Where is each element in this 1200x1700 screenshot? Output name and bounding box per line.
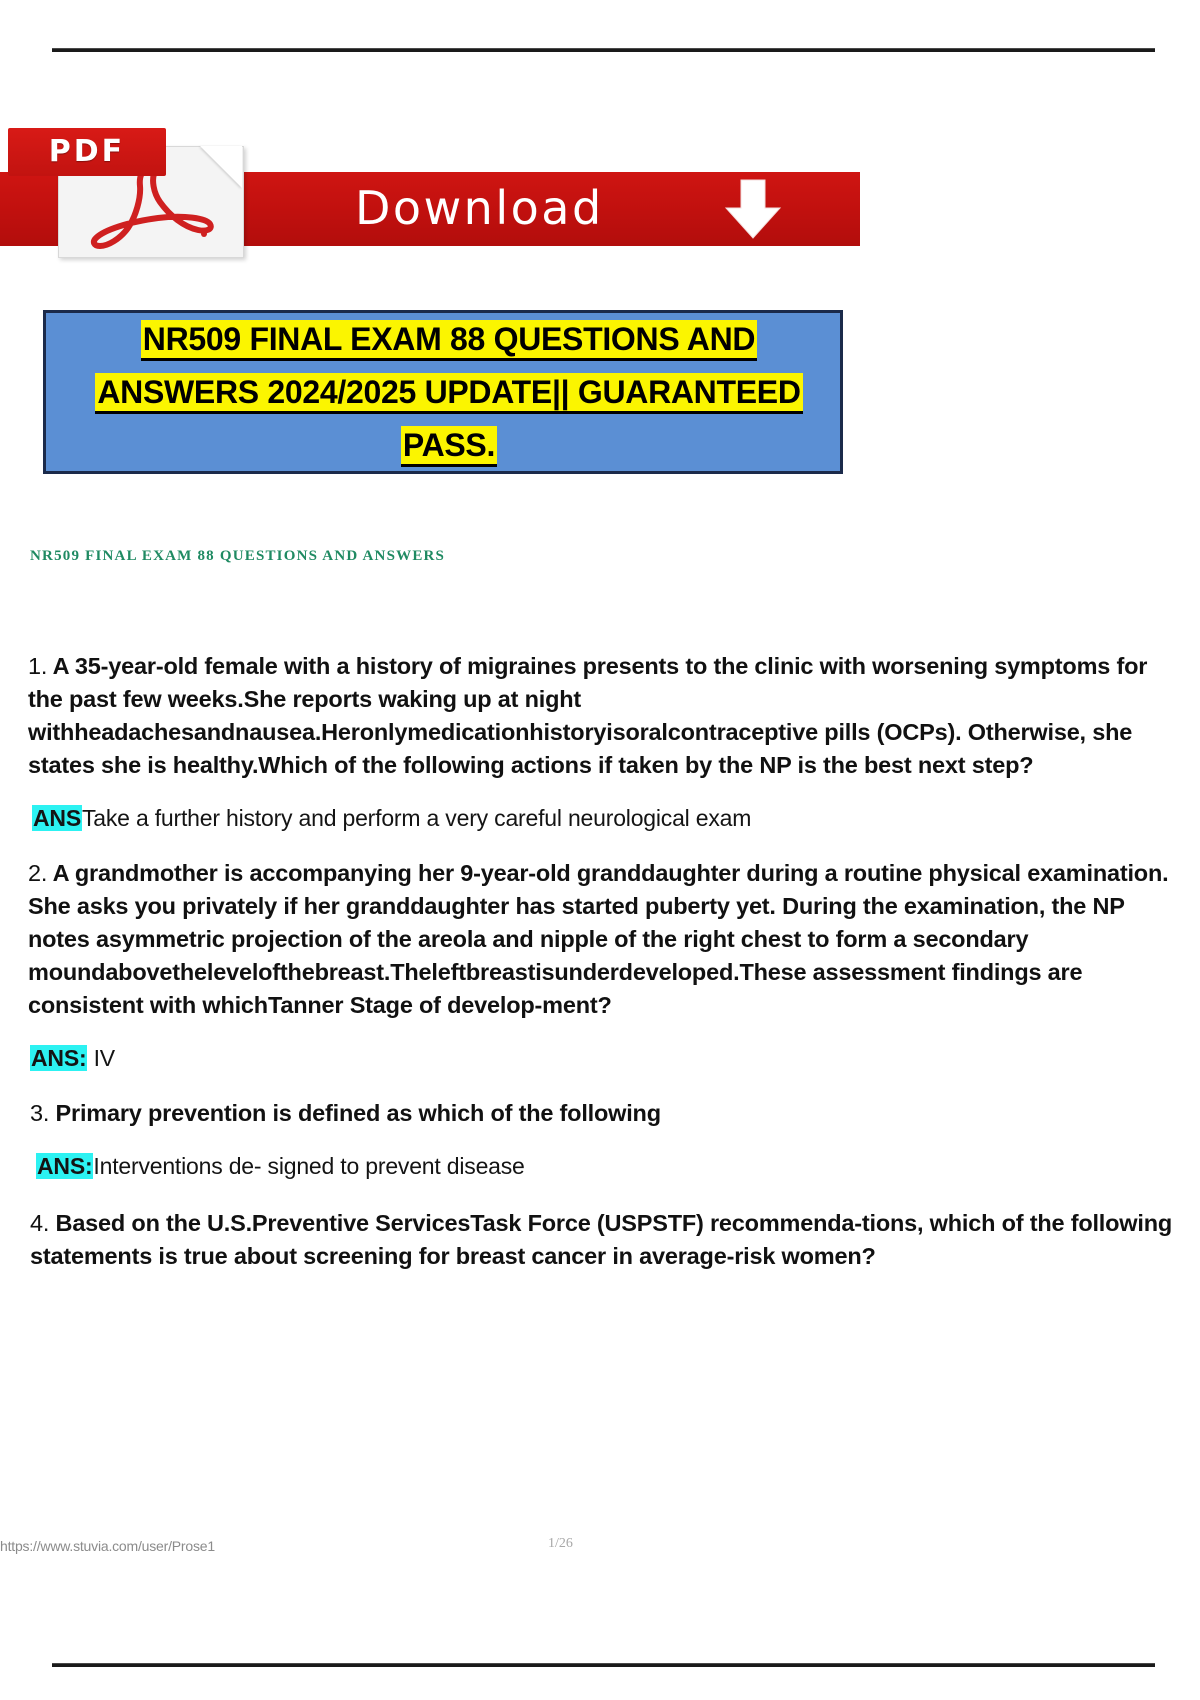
footer-page-number: 1/26 xyxy=(548,1536,573,1552)
top-divider-rule xyxy=(52,48,1155,52)
answer-2-tag: ANS: xyxy=(30,1045,87,1071)
title-line-1: NR509 FINAL EXAM 88 QUESTIONS AND xyxy=(43,316,855,369)
question-4-text: 4. Based on the U.S.Preventive ServicesT… xyxy=(30,1207,1178,1273)
question-block-3: 3. Primary prevention is defined as whic… xyxy=(30,1097,1178,1130)
answer-1-text: Take a further history and perform a ver… xyxy=(82,805,751,831)
question-block-1: 1. A 35-year-old female with a history o… xyxy=(28,650,1178,782)
question-3-body: Primary prevention is defined as which o… xyxy=(56,1100,661,1126)
question-2-body: A grandmother is accompanying her 9-year… xyxy=(28,860,1168,1018)
pdf-label-tab: PDF xyxy=(8,128,166,176)
pdf-file-icon: PDF xyxy=(58,128,242,256)
question-1-number: 1. xyxy=(28,653,47,679)
question-3-text: 3. Primary prevention is defined as whic… xyxy=(30,1097,1178,1130)
question-1-text: 1. A 35-year-old female with a history o… xyxy=(28,650,1178,782)
answer-3-tag: ANS: xyxy=(36,1153,93,1179)
question-3-number: 3. xyxy=(30,1100,49,1126)
title-line-3: PASS. xyxy=(43,422,855,475)
title-line-2: ANSWERS 2024/2025 UPDATE|| GUARANTEED xyxy=(43,369,855,422)
answer-2-text: IV xyxy=(87,1045,115,1071)
answer-1-tag: ANS xyxy=(32,805,82,831)
question-2-text: 2. A grandmother is accompanying her 9-y… xyxy=(28,857,1178,1022)
question-block-4: 4. Based on the U.S.Preventive ServicesT… xyxy=(30,1207,1178,1273)
question-1-body: A 35-year-old female with a history of m… xyxy=(28,653,1147,778)
document-page: Download PDF NR509 FINAL EXAM 88 QUESTIO… xyxy=(0,0,1200,1700)
answer-block-1: ANSTake a further history and perform a … xyxy=(32,802,1178,835)
question-4-body: Based on the U.S.Preventive ServicesTask… xyxy=(30,1210,1172,1269)
exam-content: 1. A 35-year-old female with a history o… xyxy=(28,650,1178,1291)
footer-url[interactable]: https://www.stuvia.com/user/Prose1 xyxy=(0,1538,215,1554)
question-4-number: 4. xyxy=(30,1210,49,1236)
question-block-2: 2. A grandmother is accompanying her 9-y… xyxy=(28,857,1178,1022)
title-text-group: NR509 FINAL EXAM 88 QUESTIONS AND ANSWER… xyxy=(43,316,855,475)
answer-3-text: Interventions de- signed to prevent dise… xyxy=(93,1153,524,1179)
download-arrow-icon xyxy=(722,178,784,240)
bottom-divider-rule xyxy=(52,1663,1155,1667)
acrobat-swirl-icon xyxy=(84,164,216,252)
answer-block-3: ANS:Interventions de- signed to prevent … xyxy=(36,1150,1178,1183)
download-label: Download xyxy=(355,176,685,242)
question-2-number: 2. xyxy=(28,860,47,886)
green-subheading: NR509 FINAL EXAM 88 QUESTIONS AND ANSWER… xyxy=(30,548,445,565)
answer-block-2: ANS: IV xyxy=(30,1042,1178,1075)
